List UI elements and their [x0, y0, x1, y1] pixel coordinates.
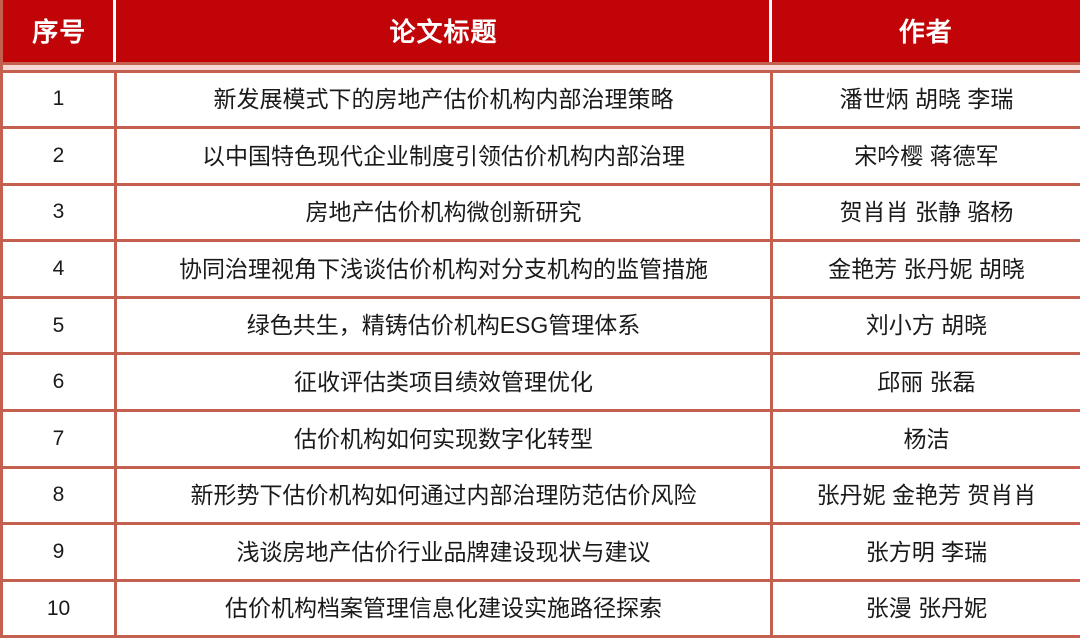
cell-paper-title: 协同治理视角下浅谈估价机构对分支机构的监管措施 — [116, 241, 772, 298]
column-header-title: 论文标题 — [116, 0, 772, 63]
cell-index: 3 — [2, 184, 116, 241]
table-row: 8新形势下估价机构如何通过内部治理防范估价风险张丹妮 金艳芳 贺肖肖 — [2, 467, 1080, 524]
column-header-author: 作者 — [772, 0, 1080, 63]
cell-author: 金艳芳 张丹妮 胡晓 — [772, 241, 1080, 298]
table-row: 7估价机构如何实现数字化转型杨洁 — [2, 411, 1080, 468]
cell-author: 潘世炳 胡晓 李瑞 — [772, 71, 1080, 128]
paper-list-table: 序号 论文标题 作者 1新发展模式下的房地产估价机构内部治理策略潘世炳 胡晓 李… — [0, 0, 1080, 638]
table-row: 4协同治理视角下浅谈估价机构对分支机构的监管措施金艳芳 张丹妮 胡晓 — [2, 241, 1080, 298]
table-row: 2以中国特色现代企业制度引领估价机构内部治理宋吟樱 蒋德军 — [2, 128, 1080, 185]
cell-index: 10 — [2, 580, 116, 637]
table-header: 序号 论文标题 作者 — [2, 0, 1080, 63]
cell-author: 刘小方 胡晓 — [772, 297, 1080, 354]
table-body: 1新发展模式下的房地产估价机构内部治理策略潘世炳 胡晓 李瑞2以中国特色现代企业… — [2, 63, 1080, 637]
cell-paper-title: 新发展模式下的房地产估价机构内部治理策略 — [116, 71, 772, 128]
table-row: 9浅谈房地产估价行业品牌建设现状与建议张方明 李瑞 — [2, 524, 1080, 581]
header-separator — [2, 63, 1080, 71]
cell-paper-title: 估价机构如何实现数字化转型 — [116, 411, 772, 468]
cell-paper-title: 新形势下估价机构如何通过内部治理防范估价风险 — [116, 467, 772, 524]
cell-index: 6 — [2, 354, 116, 411]
cell-paper-title: 浅谈房地产估价行业品牌建设现状与建议 — [116, 524, 772, 581]
cell-paper-title: 以中国特色现代企业制度引领估价机构内部治理 — [116, 128, 772, 185]
cell-index: 7 — [2, 411, 116, 468]
cell-index: 4 — [2, 241, 116, 298]
header-separator-cell — [2, 63, 1080, 71]
table-row: 1新发展模式下的房地产估价机构内部治理策略潘世炳 胡晓 李瑞 — [2, 71, 1080, 128]
cell-index: 2 — [2, 128, 116, 185]
cell-author: 宋吟樱 蒋德军 — [772, 128, 1080, 185]
cell-author: 杨洁 — [772, 411, 1080, 468]
table-row: 10估价机构档案管理信息化建设实施路径探索张漫 张丹妮 — [2, 580, 1080, 637]
cell-index: 1 — [2, 71, 116, 128]
cell-author: 张方明 李瑞 — [772, 524, 1080, 581]
header-row: 序号 论文标题 作者 — [2, 0, 1080, 63]
column-header-index: 序号 — [2, 0, 116, 63]
cell-author: 张丹妮 金艳芳 贺肖肖 — [772, 467, 1080, 524]
cell-index: 5 — [2, 297, 116, 354]
table-row: 3房地产估价机构微创新研究贺肖肖 张静 骆杨 — [2, 184, 1080, 241]
cell-author: 贺肖肖 张静 骆杨 — [772, 184, 1080, 241]
cell-author: 张漫 张丹妮 — [772, 580, 1080, 637]
cell-author: 邱丽 张磊 — [772, 354, 1080, 411]
cell-paper-title: 房地产估价机构微创新研究 — [116, 184, 772, 241]
cell-paper-title: 绿色共生，精铸估价机构ESG管理体系 — [116, 297, 772, 354]
table-row: 6征收评估类项目绩效管理优化邱丽 张磊 — [2, 354, 1080, 411]
cell-paper-title: 征收评估类项目绩效管理优化 — [116, 354, 772, 411]
cell-index: 8 — [2, 467, 116, 524]
cell-paper-title: 估价机构档案管理信息化建设实施路径探索 — [116, 580, 772, 637]
table-row: 5绿色共生，精铸估价机构ESG管理体系刘小方 胡晓 — [2, 297, 1080, 354]
cell-index: 9 — [2, 524, 116, 581]
